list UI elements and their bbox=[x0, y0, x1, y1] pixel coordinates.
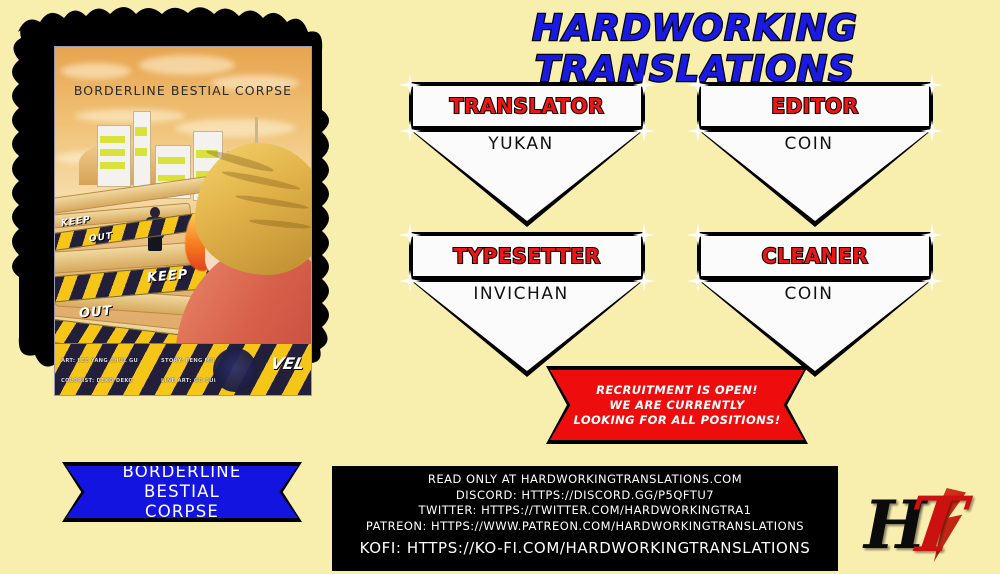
credit-person-name: YUKAN bbox=[403, 134, 639, 154]
link-line-discord[interactable]: DISCORD: HTTPS://DISCORD.GG/P5QFTU7 bbox=[332, 488, 838, 504]
link-line-website[interactable]: READ ONLY AT HARDWORKINGTRANSLATIONS.COM bbox=[332, 472, 838, 488]
pennant-role-plate: EDITOR bbox=[697, 82, 933, 130]
links-panel: READ ONLY AT HARDWORKINGTRANSLATIONS.COM… bbox=[332, 466, 838, 571]
credit-pennant-translator: TRANSLATOR YUKAN bbox=[403, 82, 651, 232]
manga-cover[interactable]: BORDERLINE BESTIAL CORPSE bbox=[8, 2, 358, 442]
link-line-kofi[interactable]: KOFI: HTTPS://KO-FI.COM/HARDWORKINGTRANS… bbox=[332, 537, 838, 559]
credit-role-label: TRANSLATOR bbox=[450, 94, 604, 118]
hardworking-translations-logo: H T bbox=[862, 478, 982, 564]
recruitment-ribbon-fill: RECRUITMENT IS OPEN! WE ARE CURRENTLY LO… bbox=[550, 370, 804, 440]
recruitment-text: RECRUITMENT IS OPEN! WE ARE CURRENTLY LO… bbox=[558, 383, 797, 428]
page-title: HARDWORKING TRANSLATIONS bbox=[400, 8, 990, 90]
building bbox=[133, 111, 151, 187]
cloud bbox=[139, 55, 235, 75]
pennant-role-plate: TYPESETTER bbox=[409, 232, 645, 280]
cloud bbox=[75, 109, 185, 123]
hazard-label: OUT bbox=[78, 304, 113, 322]
recruitment-ribbon: RECRUITMENT IS OPEN! WE ARE CURRENTLY LO… bbox=[546, 366, 808, 444]
cloud bbox=[61, 63, 131, 79]
series-title-text: BORDERLINE BESTIAL CORPSE bbox=[66, 462, 298, 522]
pennant-role-plate: TRANSLATOR bbox=[409, 82, 645, 130]
cover-artwork: BORDERLINE BESTIAL CORPSE bbox=[54, 46, 312, 396]
link-line-patreon[interactable]: PATREON: HTTPS://WWW.PATREON.COM/HARDWOR… bbox=[332, 519, 838, 535]
credit-pennant-typesetter: TYPESETTER INVICHAN bbox=[403, 232, 651, 382]
pennant-role-plate: CLEANER bbox=[697, 232, 933, 280]
credit-role-label: TYPESETTER bbox=[453, 244, 600, 268]
art-credit-line: COLORIST: DEKO DEKO bbox=[61, 378, 133, 384]
credit-role-label: EDITOR bbox=[771, 94, 858, 118]
building bbox=[97, 125, 131, 187]
artist-signature: VEL bbox=[269, 354, 307, 373]
art-credit-line: ART: LEE YANG CHUL GU bbox=[61, 358, 138, 364]
artwork-credit-strip: ART: LEE YANG CHUL GU COLORIST: DEKO DEK… bbox=[55, 343, 311, 395]
cover-title-text: BORDERLINE BESTIAL CORPSE bbox=[55, 83, 311, 98]
art-credit-line: STORY: FENG MIL bbox=[161, 358, 216, 364]
credit-pennant-cleaner: CLEANER COIN bbox=[691, 232, 939, 382]
credits-page: BORDERLINE BESTIAL CORPSE bbox=[0, 0, 1000, 574]
link-line-twitter[interactable]: TWITTER: HTTPS://TWITTER.COM/HARDWORKING… bbox=[332, 503, 838, 519]
credit-person-name: INVICHAN bbox=[403, 284, 639, 304]
credit-role-label: CLEANER bbox=[762, 244, 869, 268]
art-credit-line: LINE ART: GO SUI bbox=[161, 378, 216, 384]
artist-emblem bbox=[213, 348, 257, 392]
credit-person-name: COIN bbox=[691, 284, 927, 304]
logo-letter-t: T bbox=[902, 480, 971, 569]
credit-pennant-editor: EDITOR COIN bbox=[691, 82, 939, 232]
series-ribbon-fill: BORDERLINE BESTIAL CORPSE bbox=[66, 466, 298, 518]
credit-person-name: COIN bbox=[691, 134, 927, 154]
series-title-ribbon: BORDERLINE BESTIAL CORPSE bbox=[62, 462, 302, 522]
